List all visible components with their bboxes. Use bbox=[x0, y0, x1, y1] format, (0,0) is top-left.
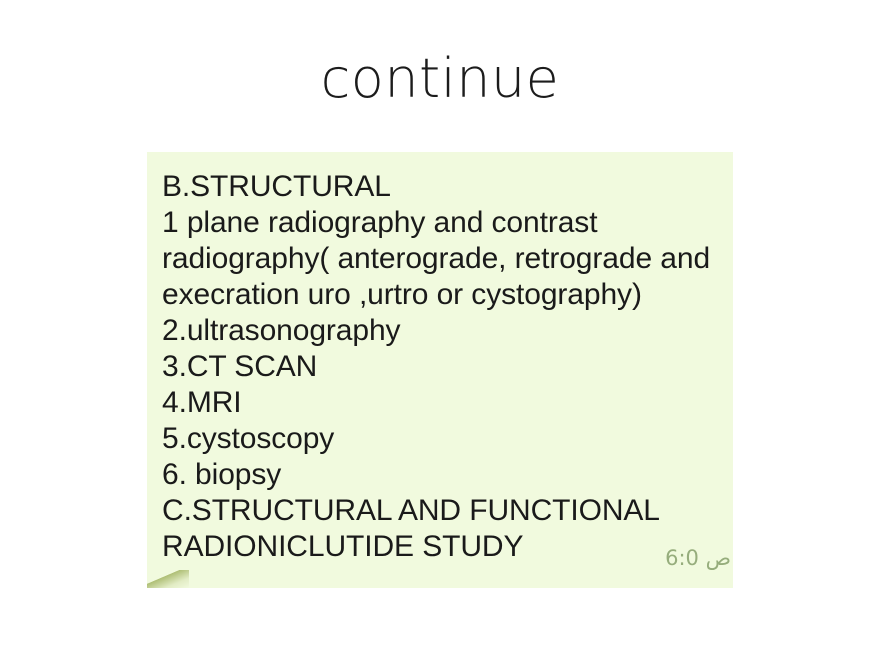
embedded-screenshot-image: B.STRUCTURAL 1 plane radiography and con… bbox=[147, 152, 733, 588]
text-line: 6. biopsy bbox=[162, 457, 733, 493]
page-curl-corner bbox=[147, 570, 189, 588]
text-line: C.STRUCTURAL AND FUNCTIONAL bbox=[162, 493, 733, 529]
page-title: continue bbox=[0, 46, 880, 112]
text-line: 2.ultrasonography bbox=[162, 313, 733, 349]
text-line: B.STRUCTURAL bbox=[162, 169, 733, 205]
slide-canvas: continue B.STRUCTURAL 1 plane radiograph… bbox=[0, 0, 880, 659]
screenshot-timestamp: ص 6:0 bbox=[665, 546, 731, 570]
screenshot-text-block: B.STRUCTURAL 1 plane radiography and con… bbox=[162, 169, 733, 565]
text-line: 1 plane radiography and contrast bbox=[162, 205, 733, 241]
text-line: 5.cystoscopy bbox=[162, 421, 733, 457]
text-line: radiography( anterograde, retrograde and bbox=[162, 241, 733, 277]
text-line: execration uro ,urtro or cystography) bbox=[162, 277, 733, 313]
text-line: 3.CT SCAN bbox=[162, 349, 733, 385]
text-line: RADIONICLUTIDE STUDY bbox=[162, 529, 733, 565]
text-line: 4.MRI bbox=[162, 385, 733, 421]
